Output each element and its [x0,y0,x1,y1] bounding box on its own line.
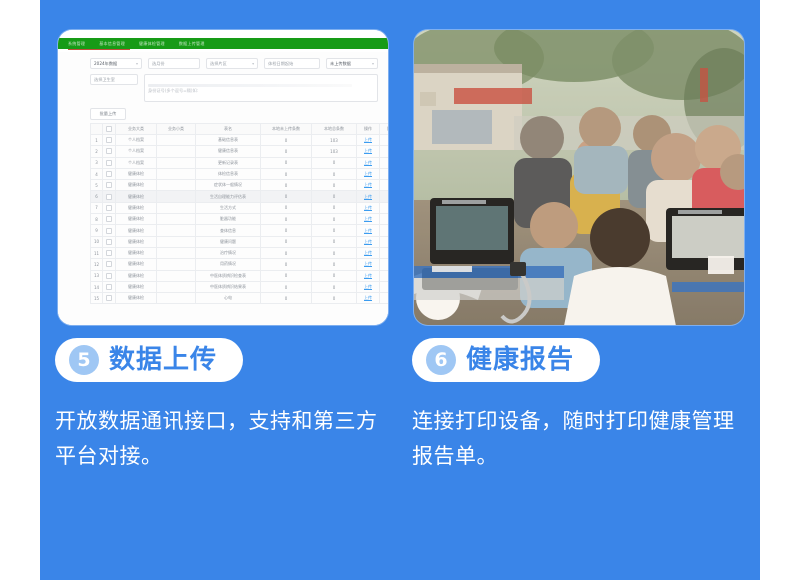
table-row[interactable]: 3个人档案更新记录表00上传 [91,157,389,168]
row-checkbox[interactable] [103,146,116,157]
row-checkbox[interactable] [103,135,116,146]
th-index [91,124,103,135]
cell-index: 13 [91,270,103,281]
cell-subcategory [157,135,196,146]
year-select-value: 2024年数据 [94,61,117,67]
upload-table: 业务大类 业务小类 表名 本地未上传条数 本地总条数 操作 提示状态 1个人档案… [90,123,388,304]
month-select-value: 选月份 [152,61,165,67]
cell-status [380,214,389,225]
cell-status [380,135,389,146]
table-row[interactable]: 7健康体检生活方式00上传 [91,202,389,213]
cell-subcategory [157,225,196,236]
cell-subcategory [157,293,196,304]
health-screening-photo [414,30,744,325]
cell-pending-count: 0 [261,281,312,292]
th-operation: 操作 [357,124,380,135]
cell-pending-count: 0 [261,191,312,202]
cell-total-count: 103 [312,135,357,146]
table-row[interactable]: 15健康体检心电00上传 [91,293,389,304]
cell-index: 1 [91,135,103,146]
cell-pending-count: 0 [261,146,312,157]
chevron-down-icon: ▾ [252,61,254,66]
cell-pending-count: 0 [261,157,312,168]
cell-table-name: 查体信息 [196,225,261,236]
table-row[interactable]: 9健康体检查体信息00上传 [91,225,389,236]
row-checkbox[interactable] [103,281,116,292]
cell-index: 11 [91,247,103,258]
cell-subcategory [157,180,196,191]
cell-subcategory [157,202,196,213]
software-screenshot: 系统管理 基本信息管理 健康体检管理 数据上传管理 2024年数据 ▾ 选月份 [58,30,388,325]
app-content: 2024年数据 ▾ 选月份 选择片区 ▾ 体检日期起始 [58,52,388,325]
section-6-description: 连接打印设备，随时打印健康管理报告单。 [412,404,742,473]
row-checkbox[interactable] [103,225,116,236]
row-checkbox[interactable] [103,202,116,213]
cell-table-name: 生活自理能力评估表 [196,191,261,202]
row-checkbox-icon[interactable] [106,137,112,143]
cell-category: 健康体检 [116,247,157,258]
cell-index: 6 [91,191,103,202]
app-navbar: 系统管理 基本信息管理 健康体检管理 数据上传管理 [58,38,388,49]
cell-category: 个人档案 [116,146,157,157]
th-total-count: 本地总条数 [312,124,357,135]
cell-subcategory [157,236,196,247]
row-checkbox[interactable] [103,157,116,168]
clinic-select-label: 选择卫生室 [94,77,115,83]
cell-status [380,146,389,157]
cell-status [380,270,389,281]
cell-status [380,247,389,258]
district-select[interactable]: 选择片区 ▾ [206,58,258,69]
cell-upload-link[interactable]: 上传 [357,214,380,225]
status-select[interactable]: 未上传数据 ▾ [326,58,378,69]
cell-upload-link[interactable]: 上传 [357,293,380,304]
navbar-item-1[interactable]: 基本信息管理 [99,41,125,47]
cell-upload-link[interactable]: 上传 [357,146,380,157]
cell-category: 健康体检 [116,225,157,236]
chevron-down-icon: ▾ [136,61,138,66]
table-row[interactable]: 5健康体检症状体一般情况00上传 [91,180,389,191]
section-5-description: 开放数据通讯接口，支持和第三方平台对接。 [55,404,385,473]
row-checkbox-icon[interactable] [106,295,112,301]
cell-table-name: 生活方式 [196,202,261,213]
navbar-item-0[interactable]: 系统管理 [68,41,85,47]
cell-total-count: 0 [312,168,357,179]
cell-index: 7 [91,202,103,213]
navbar-active-underline [68,49,130,50]
navbar-item-2[interactable]: 健康体检管理 [139,41,165,47]
cell-table-name: 健康问题 [196,236,261,247]
row-checkbox-icon[interactable] [106,160,112,166]
cell-upload-link[interactable]: 上传 [357,247,380,258]
table-row[interactable]: 13健康体检中医体质辨识检查表00上传 [91,270,389,281]
table-header-row: 业务大类 业务小类 表名 本地未上传条数 本地总条数 操作 提示状态 [91,124,389,135]
cell-index: 5 [91,180,103,191]
cell-index: 9 [91,225,103,236]
cell-total-count: 0 [312,236,357,247]
idcard-textarea[interactable]: 身份证号(多个逗号=隔)如: [144,74,378,102]
cell-pending-count: 0 [261,259,312,270]
cell-upload-link[interactable]: 上传 [357,135,380,146]
chevron-down-icon: ▾ [372,61,374,66]
section-5-title: 数据上传 [109,347,217,373]
idcard-entered-values [148,84,352,87]
cell-upload-link[interactable]: 上传 [357,281,380,292]
cell-table-name: 心电 [196,293,261,304]
batch-upload-label: 批量上传 [100,111,117,117]
cell-pending-count: 0 [261,293,312,304]
cell-category: 健康体检 [116,281,157,292]
cell-index: 12 [91,259,103,270]
photo-illustration [414,30,744,325]
table-head: 业务大类 业务小类 表名 本地未上传条数 本地总条数 操作 提示状态 [91,124,389,135]
year-select[interactable]: 2024年数据 ▾ [90,58,142,69]
district-select-value: 选择片区 [210,61,227,67]
cell-index: 2 [91,146,103,157]
row-checkbox[interactable] [103,191,116,202]
cell-pending-count: 0 [261,180,312,191]
cell-status [380,293,389,304]
cell-upload-link[interactable]: 上传 [357,191,380,202]
table-row[interactable]: 2个人档案健康信息表0103上传 [91,146,389,157]
cell-subcategory [157,247,196,258]
clinic-select[interactable]: 选择卫生室 [90,74,138,85]
table-body: 1个人档案基础信息表0103上传2个人档案健康信息表0103上传3个人档案更新记… [91,135,389,304]
cell-status [380,191,389,202]
cell-pending-count: 0 [261,202,312,213]
page-root: 系统管理 基本信息管理 健康体检管理 数据上传管理 2024年数据 ▾ 选月份 [0,0,800,580]
photo-card [414,30,744,325]
month-select[interactable]: 选月份 [148,58,200,69]
cell-subcategory [157,270,196,281]
cell-index: 15 [91,293,103,304]
row-checkbox[interactable] [103,259,116,270]
cell-subcategory [157,168,196,179]
row-checkbox-icon[interactable] [106,171,112,177]
table-row[interactable]: 10健康体检健康问题00上传 [91,236,389,247]
cell-pending-count: 0 [261,214,312,225]
row-checkbox-icon[interactable] [106,250,112,256]
cell-upload-link[interactable]: 上传 [357,168,380,179]
row-checkbox[interactable] [103,236,116,247]
row-checkbox[interactable] [103,293,116,304]
status-select-value: 未上传数据 [330,61,351,67]
cell-category: 健康体检 [116,191,157,202]
date-select[interactable]: 体检日期起始 [264,58,320,69]
cell-status [380,157,389,168]
table-row[interactable]: 1个人档案基础信息表0103上传 [91,135,389,146]
cell-total-count: 0 [312,202,357,213]
cell-pending-count: 0 [261,168,312,179]
cell-table-name: 基础信息表 [196,135,261,146]
idcard-placeholder: 身份证号(多个逗号=隔)如: [148,88,198,93]
cell-category: 健康体检 [116,202,157,213]
cell-pending-count: 0 [261,135,312,146]
cell-status [380,180,389,191]
th-subcategory: 业务小类 [157,124,196,135]
cell-table-name: 中医体质辨识结果表 [196,281,261,292]
cell-category: 个人档案 [116,135,157,146]
th-status: 提示状态 [380,124,389,135]
table-row[interactable]: 14健康体检中医体质辨识结果表00上传 [91,281,389,292]
cell-total-count: 0 [312,180,357,191]
section-6-title: 健康报告 [466,347,574,373]
cell-table-name: 脏器功能 [196,214,261,225]
screenshot-card: 系统管理 基本信息管理 健康体检管理 数据上传管理 2024年数据 ▾ 选月份 [58,30,388,325]
cell-table-name: 健康信息表 [196,146,261,157]
cell-upload-link[interactable]: 上传 [357,157,380,168]
row-checkbox-icon[interactable] [106,228,112,234]
cell-total-count: 0 [312,270,357,281]
idcard-row: 选择卫生室 身份证号(多个逗号=隔)如: [90,74,378,102]
table-row[interactable]: 8健康体检脏器功能00上传 [91,214,389,225]
cell-total-count: 0 [312,247,357,258]
date-select-value: 体检日期起始 [268,61,293,67]
cell-pending-count: 0 [261,225,312,236]
row-checkbox-icon[interactable] [106,205,112,211]
th-category: 业务大类 [116,124,157,135]
cell-index: 14 [91,281,103,292]
cell-pending-count: 0 [261,270,312,281]
cell-total-count: 0 [312,225,357,236]
row-checkbox-icon[interactable] [106,273,112,279]
row-checkbox-icon[interactable] [106,261,112,267]
cell-total-count: 0 [312,214,357,225]
table-row[interactable]: 12健康体检用药情况00上传 [91,259,389,270]
cell-subcategory [157,146,196,157]
cell-pending-count: 0 [261,247,312,258]
cell-index: 3 [91,157,103,168]
cell-status [380,225,389,236]
cell-category: 健康体检 [116,270,157,281]
row-checkbox-icon[interactable] [106,239,112,245]
cell-upload-link[interactable]: 上传 [357,225,380,236]
cell-table-name: 用药情况 [196,259,261,270]
cell-upload-link[interactable]: 上传 [357,259,380,270]
cell-total-count: 0 [312,259,357,270]
cell-index: 8 [91,214,103,225]
cell-index: 10 [91,236,103,247]
cell-table-name: 症状体一般情况 [196,180,261,191]
cell-subcategory [157,191,196,202]
cell-status [380,236,389,247]
select-all-checkbox-icon[interactable] [106,126,112,132]
row-checkbox-icon[interactable] [106,194,112,200]
row-checkbox[interactable] [103,247,116,258]
section-5-pill: 5 数据上传 [55,338,243,382]
cell-subcategory [157,157,196,168]
row-checkbox[interactable] [103,168,116,179]
cell-upload-link[interactable]: 上传 [357,180,380,191]
row-checkbox-icon[interactable] [106,148,112,154]
section-5: 5 数据上传 开放数据通讯接口，支持和第三方平台对接。 [55,338,400,473]
th-pending-count: 本地未上传条数 [261,124,312,135]
cell-category: 健康体检 [116,236,157,247]
row-checkbox-icon[interactable] [106,284,112,290]
cell-total-count: 0 [312,157,357,168]
table-row[interactable]: 4健康体检体检信息表00上传 [91,168,389,179]
cell-total-count: 0 [312,281,357,292]
cell-total-count: 0 [312,293,357,304]
row-checkbox[interactable] [103,180,116,191]
cell-category: 健康体检 [116,214,157,225]
table-row[interactable]: 6健康体检生活自理能力评估表00上传 [91,191,389,202]
section-5-number-badge: 5 [69,345,99,375]
cell-category: 健康体检 [116,168,157,179]
cell-status [380,259,389,270]
cell-pending-count: 0 [261,236,312,247]
batch-upload-button[interactable]: 批量上传 [90,108,126,120]
cell-upload-link[interactable]: 上传 [357,270,380,281]
cell-table-name: 体检信息表 [196,168,261,179]
row-checkbox-icon[interactable] [106,216,112,222]
cell-category: 健康体检 [116,293,157,304]
row-checkbox[interactable] [103,214,116,225]
cell-table-name: 中医体质辨识检查表 [196,270,261,281]
cell-total-count: 103 [312,146,357,157]
row-checkbox-icon[interactable] [106,182,112,188]
cell-subcategory [157,259,196,270]
section-6-pill: 6 健康报告 [412,338,600,382]
cell-index: 4 [91,168,103,179]
cards-row: 系统管理 基本信息管理 健康体检管理 数据上传管理 2024年数据 ▾ 选月份 [0,0,800,325]
cell-status [380,168,389,179]
table-row[interactable]: 11健康体检治疗情况00上传 [91,247,389,258]
th-table-name: 表名 [196,124,261,135]
cell-subcategory [157,281,196,292]
cell-status [380,202,389,213]
cell-subcategory [157,214,196,225]
th-select-all[interactable] [103,124,116,135]
cell-category: 个人档案 [116,157,157,168]
cell-table-name: 更新记录表 [196,157,261,168]
navbar-item-3[interactable]: 数据上传管理 [179,41,205,47]
section-6-number-badge: 6 [426,345,456,375]
cell-status [380,281,389,292]
cell-total-count: 0 [312,191,357,202]
cell-upload-link[interactable]: 上传 [357,236,380,247]
row-checkbox[interactable] [103,270,116,281]
cell-table-name: 治疗情况 [196,247,261,258]
cell-category: 健康体检 [116,259,157,270]
cell-category: 健康体检 [116,180,157,191]
section-6: 6 健康报告 连接打印设备，随时打印健康管理报告单。 [412,338,757,473]
cell-upload-link[interactable]: 上传 [357,202,380,213]
filter-bar: 2024年数据 ▾ 选月份 选择片区 ▾ 体检日期起始 [90,58,378,69]
